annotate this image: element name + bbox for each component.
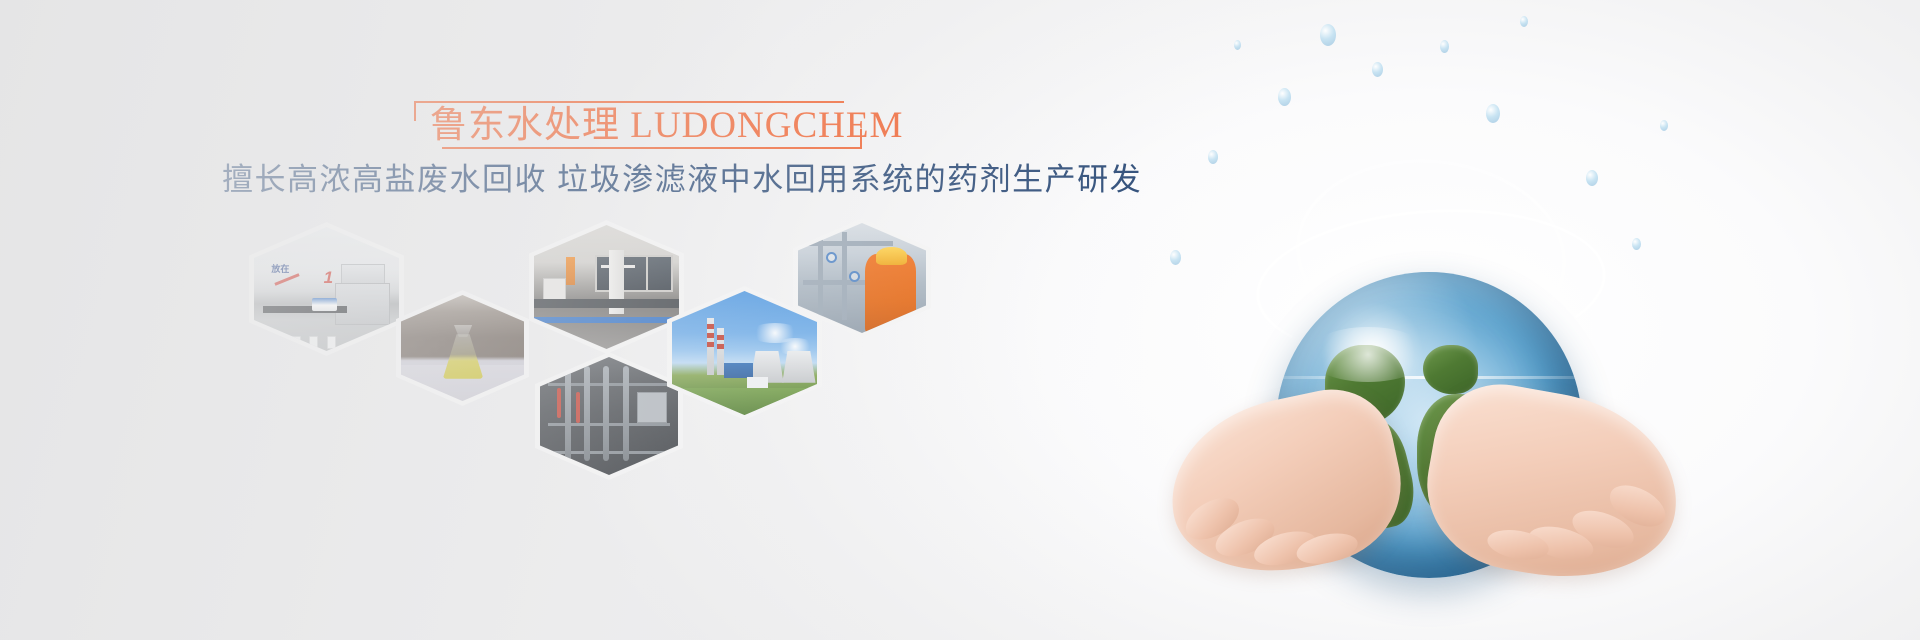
water-droplet: [1586, 170, 1598, 186]
blue-instrument: [312, 298, 337, 312]
hexagon-gallery: 放在 1: [0, 0, 1060, 640]
bench-frame: [534, 317, 679, 323]
water-droplet: [1278, 88, 1291, 106]
safety-helmet-icon: [876, 247, 907, 265]
water-droplet: [1372, 62, 1383, 77]
plant-building: [724, 363, 753, 378]
water-droplet: [1520, 16, 1528, 27]
wall-slogan-number: 1: [324, 268, 333, 288]
landmass-europe: [1423, 345, 1478, 394]
water-droplet: [1632, 238, 1641, 250]
membrane-tube: [603, 366, 609, 460]
valve-wheel: [826, 252, 837, 263]
flask-body: [443, 334, 484, 379]
hero-banner: 鲁东水处理 LUDONGCHEM 擅长高浓高盐废水回收 垃圾渗滤液中水回用系统的…: [0, 0, 1920, 640]
water-droplet: [1170, 250, 1181, 265]
gallery-hex-lab-room[interactable]: 放在 1: [249, 222, 404, 356]
lab-window: [595, 255, 673, 292]
membrane-tube: [623, 366, 629, 460]
water-droplet: [1486, 104, 1500, 123]
membrane-tube: [584, 366, 590, 460]
chemical-jug: [274, 336, 283, 349]
water-droplet: [1320, 24, 1336, 46]
vertical-pipe: [842, 232, 847, 320]
smokestack: [717, 328, 724, 375]
water-globe-artwork: [1020, 0, 1920, 640]
gallery-hex-glassware-lab[interactable]: [529, 220, 684, 354]
orange-stand: [566, 257, 575, 284]
chemical-jug: [327, 336, 336, 349]
control-panel: [637, 392, 667, 423]
gallery-hex-piping[interactable]: [535, 352, 683, 480]
arrow-graphic: [275, 273, 300, 286]
cloud-layer: [1307, 327, 1429, 382]
water-droplet: [1208, 150, 1218, 164]
red-valve-handle: [557, 388, 561, 419]
lab-bench: [534, 299, 679, 308]
vertical-pipe: [818, 232, 823, 320]
wall-slogan-text: 放在: [271, 264, 289, 274]
red-valve-handle: [576, 392, 580, 423]
water-droplet: [1440, 40, 1449, 53]
lab-machine: [335, 283, 390, 325]
cooling-tower: [782, 351, 815, 383]
grass-field: [672, 388, 817, 415]
lab-cabinet: [543, 278, 566, 300]
gallery-hex-flask[interactable]: [396, 290, 529, 406]
plant-building: [747, 377, 767, 388]
smokestack: [707, 318, 714, 375]
wall-cabinet: [341, 264, 385, 284]
water-droplet: [1660, 120, 1668, 131]
water-droplet: [1234, 40, 1241, 50]
membrane-tube: [565, 366, 571, 460]
